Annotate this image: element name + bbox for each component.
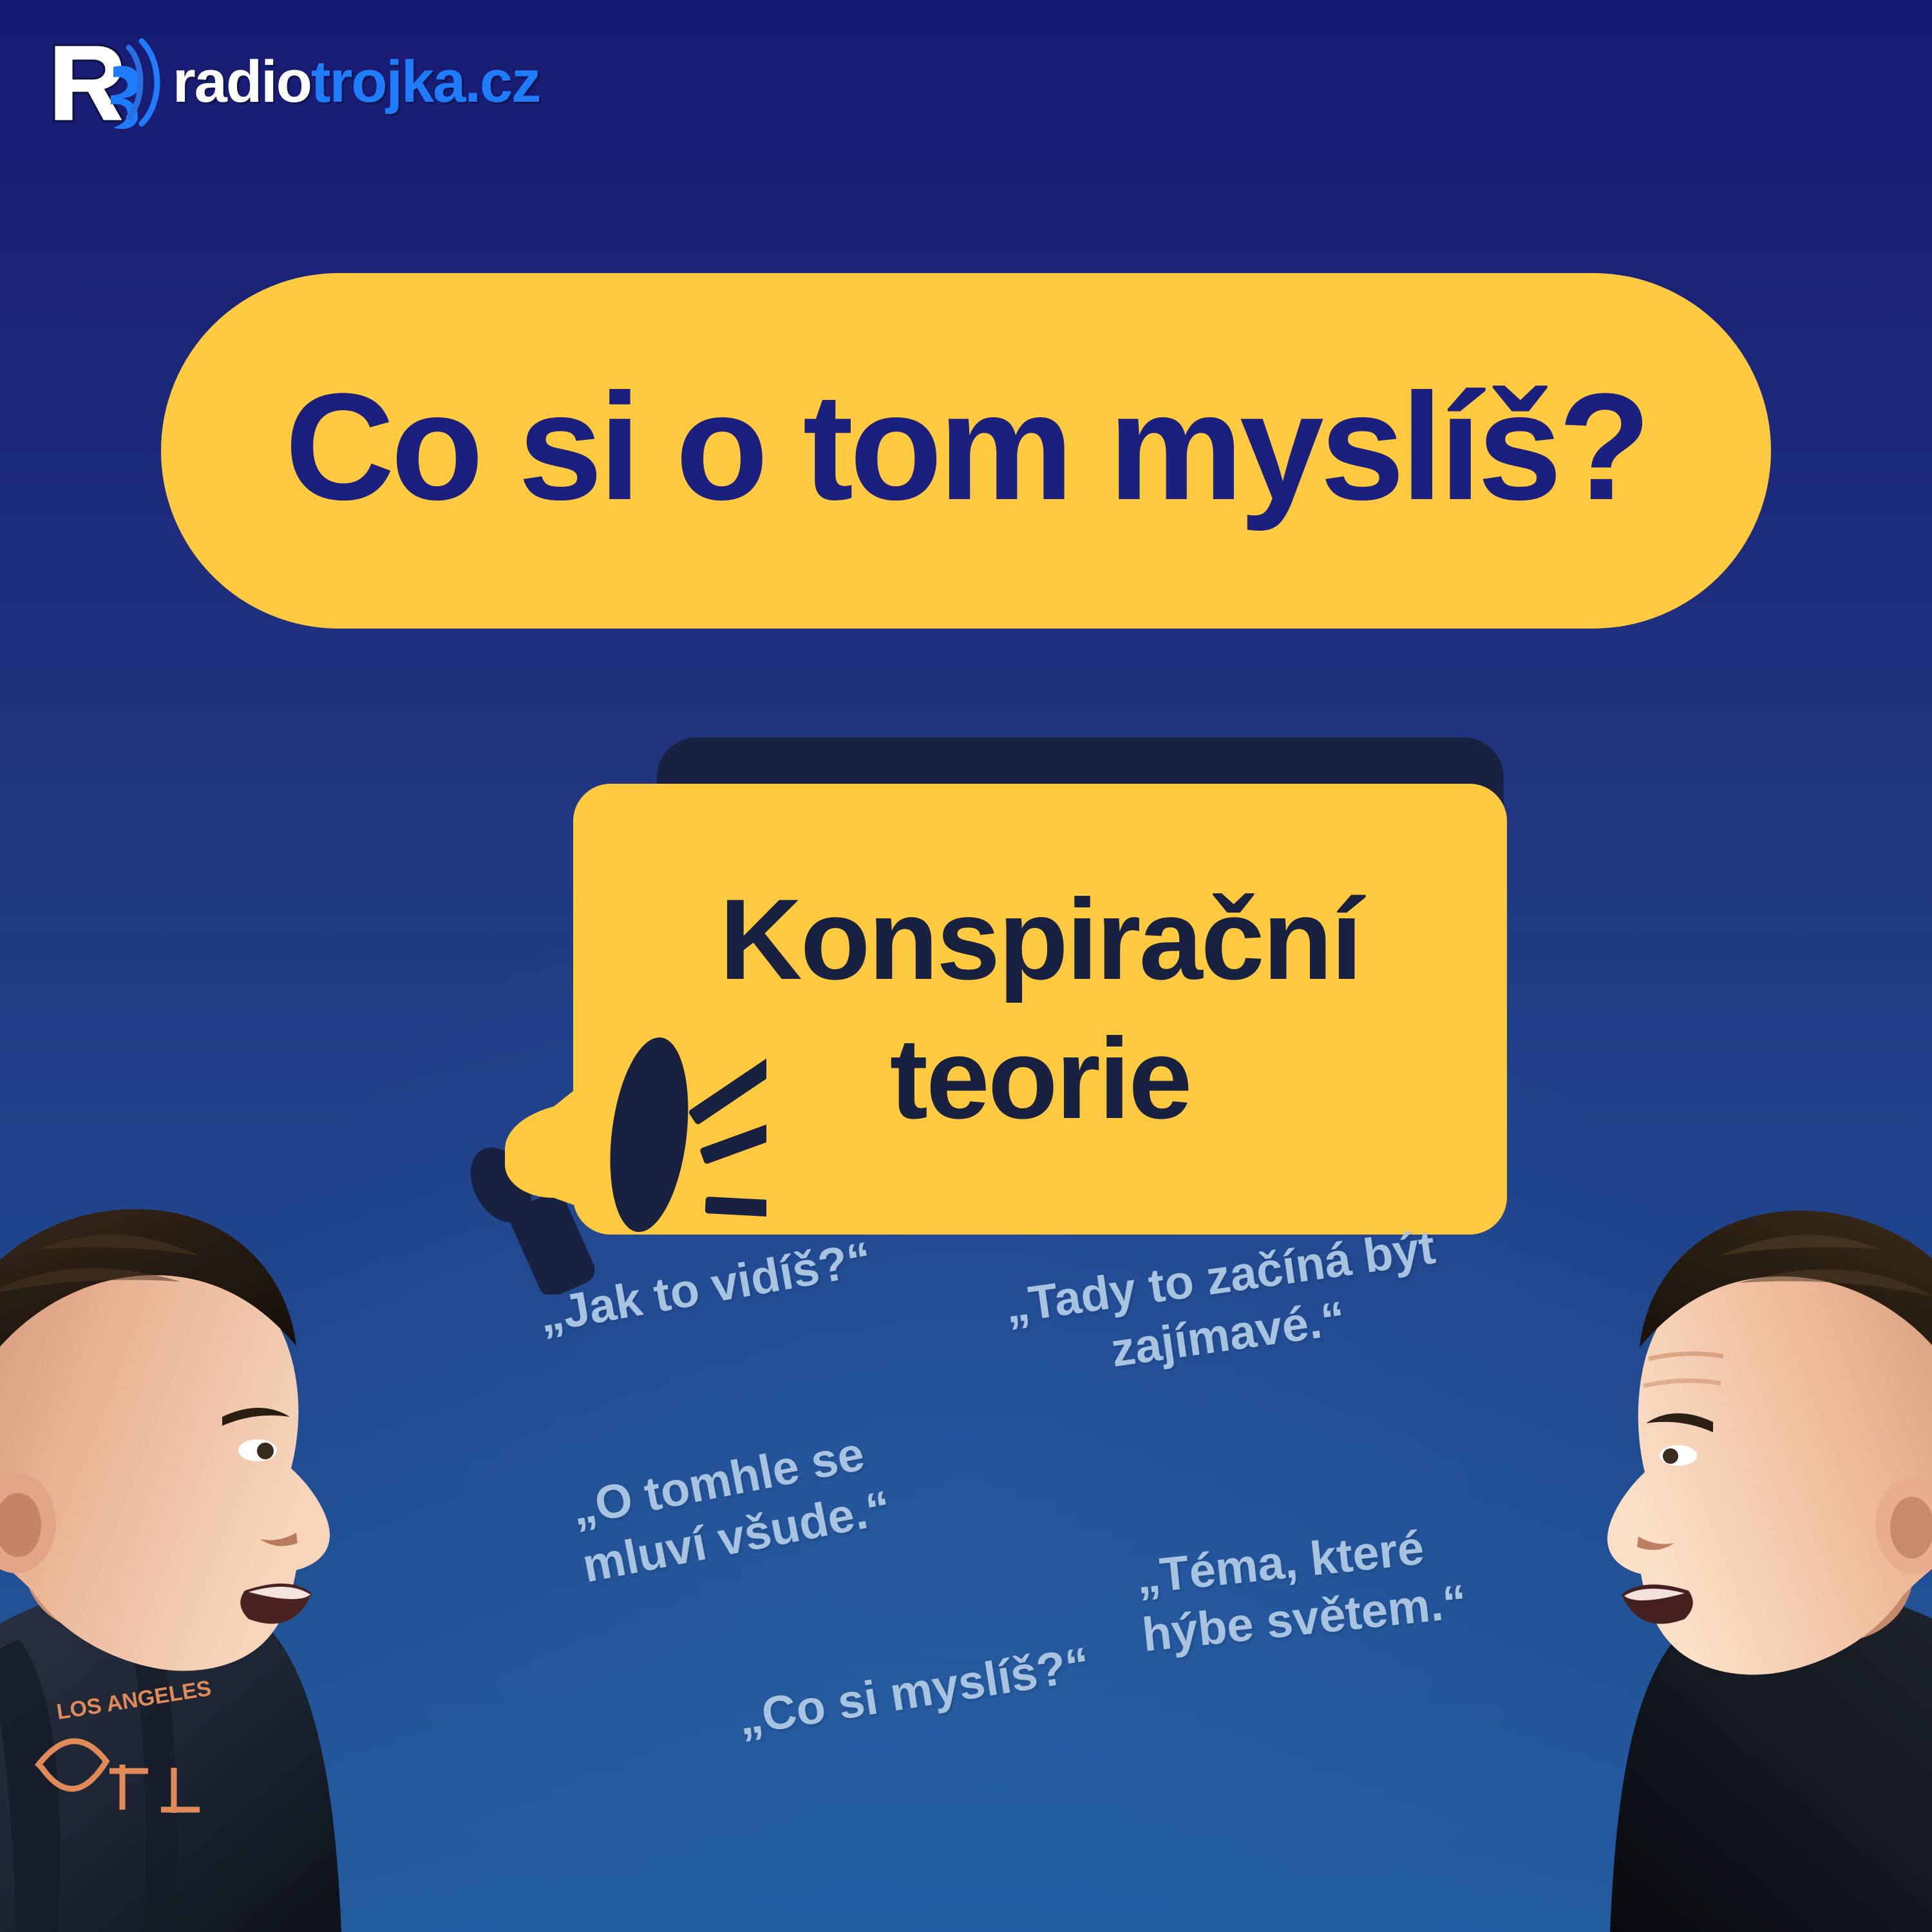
topic-line-1: Konspirační	[719, 881, 1361, 998]
quote-item: „O tomhle se mluví všude.“	[567, 1421, 896, 1595]
headline-pill: Co si o tom myslíš?	[161, 273, 1771, 629]
brand-logo[interactable]: radiotrojka.cz	[46, 33, 540, 130]
topic-card-group: Konspirační teorie	[573, 737, 1584, 1253]
brand-name-trojka: trojka.cz	[311, 49, 540, 115]
megaphone-icon	[464, 992, 766, 1294]
headline-text: Co si o tom myslíš?	[285, 371, 1647, 523]
quote-item: „Co si myslíš?“	[734, 1635, 1094, 1748]
person-left-photo: LOS ANGELES	[0, 972, 425, 1932]
poster-canvas: LOS ANGELES	[0, 0, 1932, 1932]
brand-wordmark: radiotrojka.cz	[173, 52, 540, 111]
quote-item: „Téma, které hýbe světem.“	[1133, 1515, 1470, 1664]
brand-name-radio: radio	[173, 49, 311, 115]
topic-line-2: teorie	[890, 1020, 1191, 1137]
r3-radio-waves-logo	[46, 33, 169, 130]
